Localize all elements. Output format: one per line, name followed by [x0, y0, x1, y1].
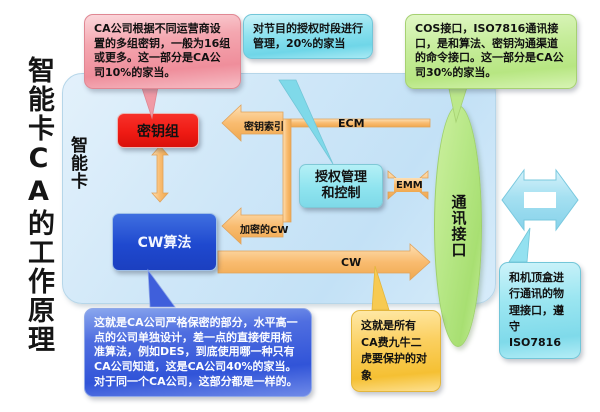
callout-auth-note[interactable]: 对节目的授权时段进行管理，20%的家当	[243, 14, 373, 59]
callout-key-group-note[interactable]: CA公司根据不同运营商设置的多组密钥，一般为16组或更多。这一部分是CA公司10…	[84, 14, 241, 89]
arrow-label-encrypted-cw: 加密的CW	[240, 221, 288, 236]
node-auth-control[interactable]: 授权管理 和控制	[299, 164, 383, 208]
node-key-group[interactable]: 密钥组	[117, 113, 199, 148]
comm-interface-label: 通讯接口	[451, 194, 466, 258]
arrow-label-key-index: 密钥索引	[244, 118, 284, 133]
callout-cos-note[interactable]: COS接口，ISO7816通讯接口，是和算法、密钥沟通渠道的命令接口。这一部分是…	[405, 14, 577, 89]
arrow-label-emm: EMM	[396, 180, 423, 191]
auth-control-line-1: 授权管理	[315, 170, 367, 186]
external-double-arrow-icon	[500, 168, 580, 236]
arrow-label-ecm: ECM	[338, 117, 365, 130]
callout-cw-algo-note[interactable]: 这就是CA公司严格保密的部分，水平高一点的公司单独设计，差一点的直接使用标准算法…	[84, 308, 312, 397]
callout-cw-protect-note[interactable]: 这就是所有CA费九牛二虎要保护的对象	[351, 310, 441, 392]
auth-control-line-2: 和控制	[315, 186, 367, 202]
arrow-label-cw: CW	[341, 256, 361, 269]
node-cw-algorithm[interactable]: CW算法	[112, 213, 217, 271]
diagram-canvas: 智能卡CA的工作原理 智能卡	[0, 0, 600, 412]
node-comm-interface[interactable]: 通讯接口	[434, 105, 482, 347]
callout-physical-if-note[interactable]: 和机顶盒进行通讯的物理接口，遵守ISO7816	[499, 262, 581, 359]
